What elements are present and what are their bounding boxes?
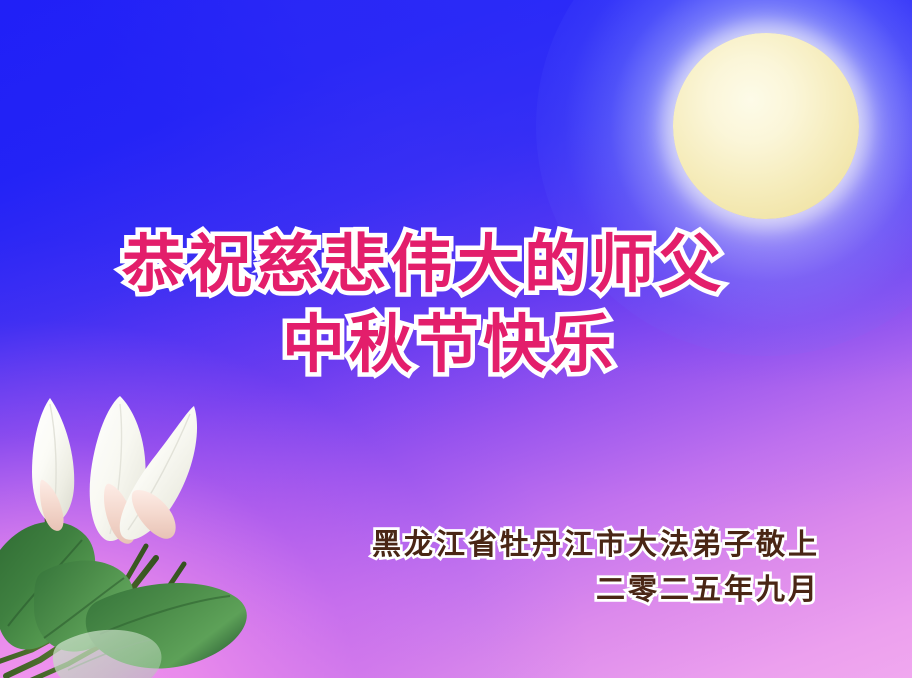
peace-lily-flower-1 <box>32 398 74 531</box>
full-moon-icon <box>673 33 859 219</box>
greeting-title-line-2: 中秋节快乐 <box>0 305 912 385</box>
greeting-title: 恭祝慈悲伟大的师父 中秋节快乐 <box>0 225 912 385</box>
greeting-title-line-1: 恭祝慈悲伟大的师父 <box>0 225 912 305</box>
signature-line-date: 二零二五年九月 <box>0 567 820 612</box>
greeting-signature: 黑龙江省牡丹江市大法弟子敬上 二零二五年九月 <box>0 522 912 612</box>
greeting-card: 恭祝慈悲伟大的师父 中秋节快乐 黑龙江省牡丹江市大法弟子敬上 二零二五年九月 <box>0 0 912 678</box>
signature-line-sender: 黑龙江省牡丹江市大法弟子敬上 <box>0 522 820 567</box>
